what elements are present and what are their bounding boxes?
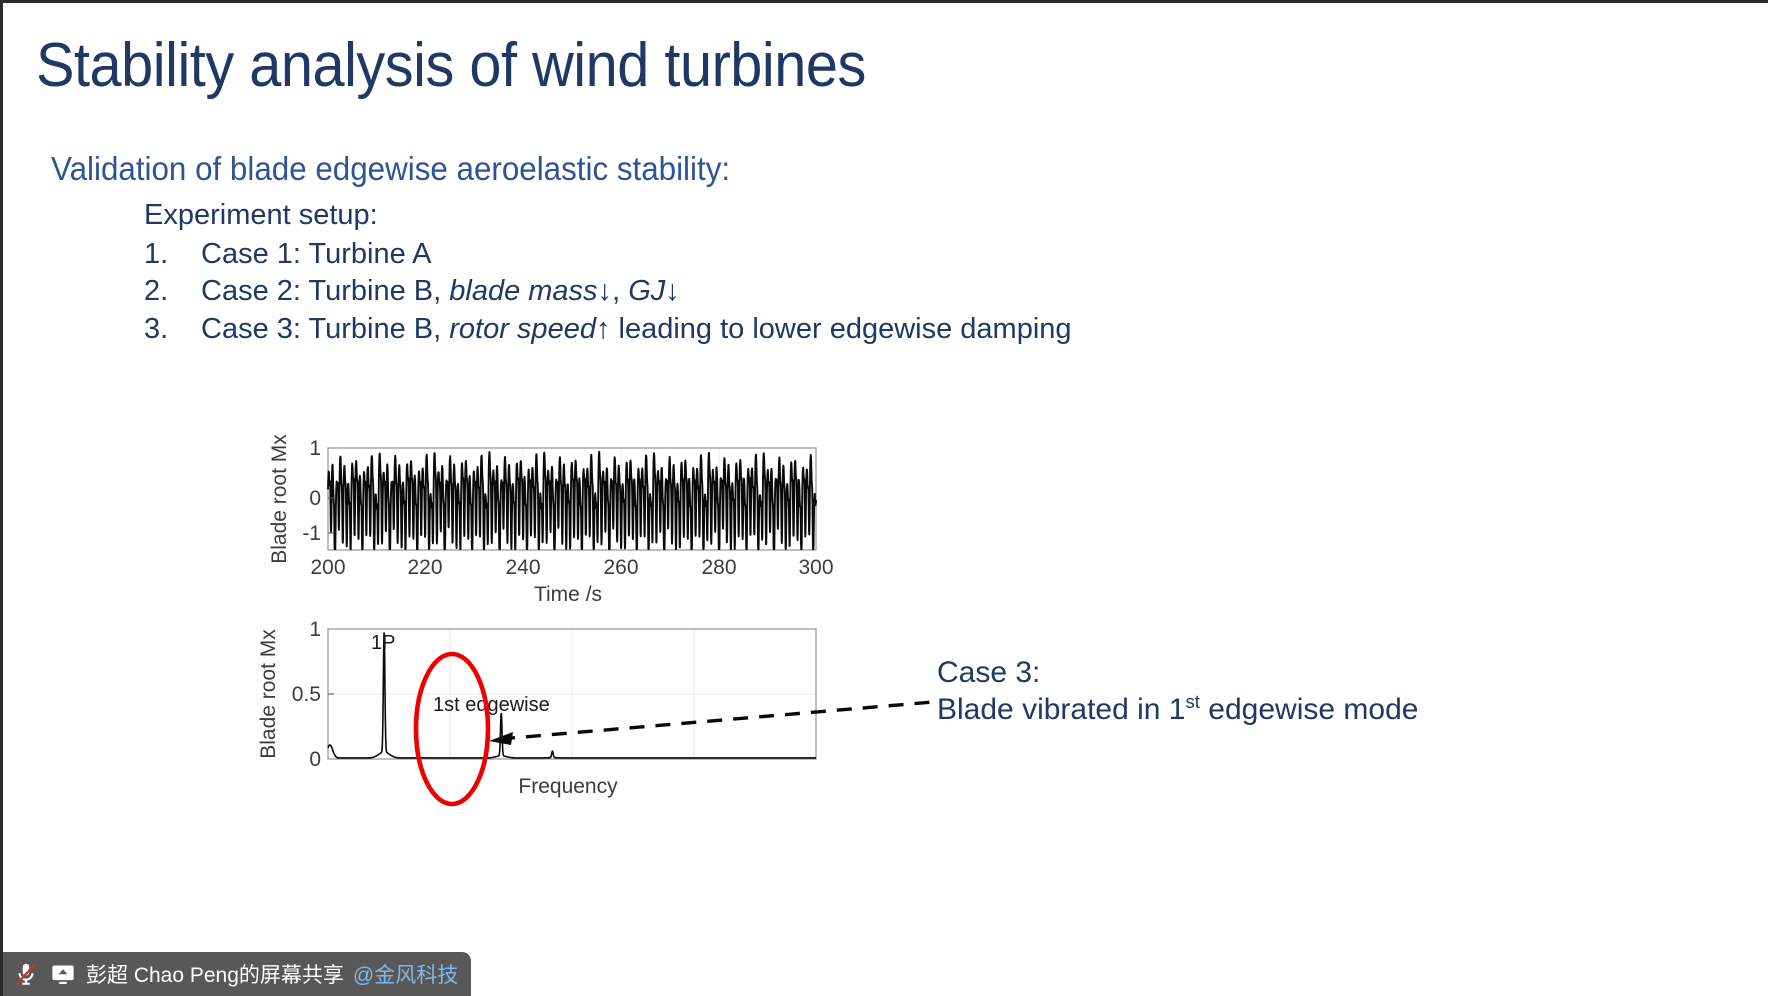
page-title: Stability analysis of wind turbines xyxy=(36,33,866,98)
list-item-number: 3. xyxy=(144,311,201,347)
list-item-number: 2. xyxy=(144,273,201,309)
screen-share-bar: 彭超 Chao Peng的屏幕共享 @金风科技 xyxy=(3,952,471,996)
share-owner-label: 彭超 Chao Peng的屏幕共享 xyxy=(86,959,344,989)
timeseries-line xyxy=(328,452,816,549)
svg-text:280: 280 xyxy=(701,556,736,579)
svg-text:240: 240 xyxy=(505,556,540,579)
svg-text:1: 1 xyxy=(309,618,321,641)
timeseries-x-axis-label: Time /s xyxy=(534,583,602,606)
list-item: 2. Case 2: Turbine B, blade mass↓, GJ↓ xyxy=(144,273,1072,309)
case3-callout: Case 3: Blade vibrated in 1st edgewise m… xyxy=(937,655,1418,728)
experiment-setup-block: Experiment setup: 1. Case 1: Turbine A 2… xyxy=(144,199,1072,348)
spectrum-gridlines xyxy=(328,629,816,759)
spectrum-figure: 1 0.5 0 Blade root Mx Frequency 1P 1st e… xyxy=(243,611,863,851)
peak-label-edgewise: 1st edgewise xyxy=(433,694,550,716)
list-item: 1. Case 1: Turbine A xyxy=(144,236,1072,272)
experiment-setup-heading: Experiment setup: xyxy=(144,199,1072,232)
timeseries-figure: 1 0 -1 200 220 240 260 280 300 Blade roo… xyxy=(258,378,858,608)
list-item-number: 1. xyxy=(144,236,201,272)
svg-text:0: 0 xyxy=(309,487,321,510)
list-item-label: Case 3: Turbine B, rotor speed↑ leading … xyxy=(201,311,1072,347)
svg-text:0: 0 xyxy=(309,748,321,771)
svg-text:0.5: 0.5 xyxy=(292,683,321,706)
peak-label-1p: 1P xyxy=(371,632,395,654)
shared-screen: Stability analysis of wind turbines Vali… xyxy=(0,0,1768,996)
edgewise-highlight-ellipse xyxy=(416,654,488,804)
svg-text:300: 300 xyxy=(798,556,833,579)
list-item-label: Case 1: Turbine A xyxy=(201,236,432,272)
callout-leader-line xyxy=(500,702,933,739)
spectrum-y-axis-label: Blade root Mx xyxy=(257,629,280,759)
timeseries-y-axis-label: Blade root Mx xyxy=(268,434,291,564)
microphone-muted-icon[interactable] xyxy=(12,960,40,988)
callout-line-1: Case 3: xyxy=(937,655,1418,692)
slide-subtitle: Validation of blade edgewise aeroelastic… xyxy=(51,150,730,188)
list-item-label: Case 2: Turbine B, blade mass↓, GJ↓ xyxy=(201,273,680,309)
svg-text:200: 200 xyxy=(310,556,345,579)
svg-text:220: 220 xyxy=(407,556,442,579)
spectrum-x-axis-label: Frequency xyxy=(518,775,618,798)
list-item: 3. Case 3: Turbine B, rotor speed↑ leadi… xyxy=(144,311,1072,347)
svg-text:-1: -1 xyxy=(302,522,321,545)
svg-text:1: 1 xyxy=(309,437,321,460)
svg-text:260: 260 xyxy=(603,556,638,579)
screen-share-icon[interactable] xyxy=(49,960,77,988)
case-list: 1. Case 1: Turbine A 2. Case 2: Turbine … xyxy=(144,236,1072,347)
share-org-label: @金风科技 xyxy=(353,959,458,989)
callout-line-2: Blade vibrated in 1st edgewise mode xyxy=(937,692,1418,729)
timeseries-x-ticks: 200 220 240 260 280 300 xyxy=(310,556,833,579)
timeseries-y-ticks: 1 0 -1 xyxy=(302,437,334,545)
